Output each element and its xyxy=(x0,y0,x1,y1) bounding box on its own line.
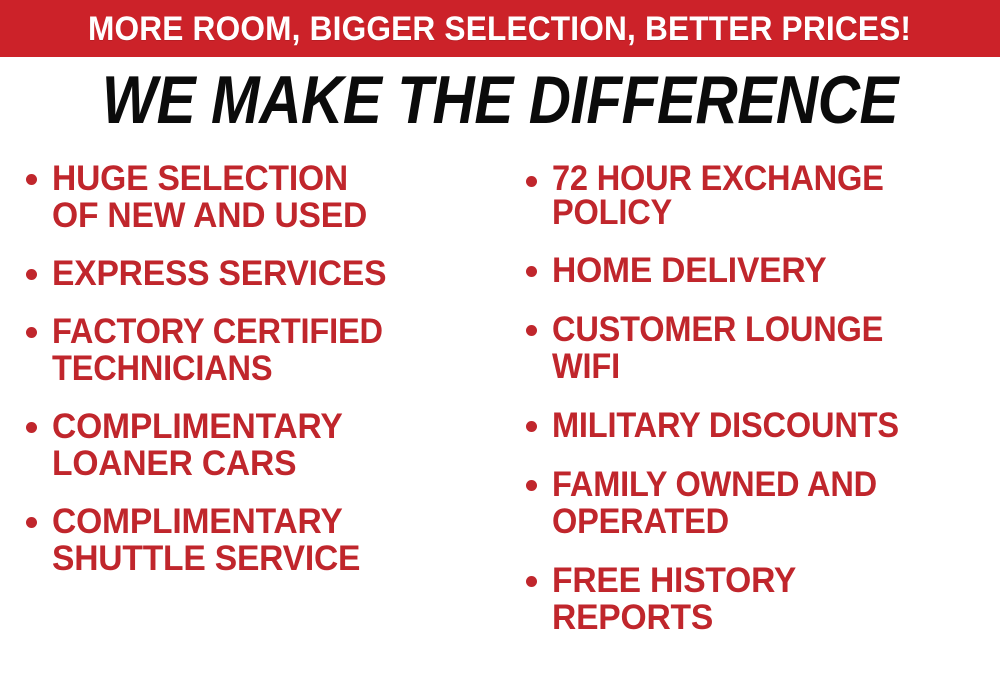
feature-item-label: FREE HISTORY REPORTS xyxy=(552,562,982,636)
feature-item-label: HUGE SELECTION OF NEW AND USED xyxy=(52,160,482,234)
feature-item-label: EXPRESS SERVICES xyxy=(52,255,482,292)
feature-item-label: MILITARY DISCOUNTS xyxy=(552,407,969,444)
top-promo-banner-text: MORE ROOM, BIGGER SELECTION, BETTER PRIC… xyxy=(88,12,911,46)
feature-item: FAMILY OWNED AND OPERATED xyxy=(514,466,1000,540)
bullet-icon xyxy=(26,517,37,528)
feature-column-right: 72 HOUR EXCHANGE POLICY HOME DELIVERY CU… xyxy=(514,162,1000,658)
bullet-icon xyxy=(26,269,37,280)
feature-item: HUGE SELECTION OF NEW AND USED xyxy=(14,160,500,234)
feature-item-label: COMPLIMENTARY SHUTTLE SERVICE xyxy=(52,503,482,577)
feature-item: COMPLIMENTARY LOANER CARS xyxy=(14,408,500,482)
feature-list: HUGE SELECTION OF NEW AND USED EXPRESS S… xyxy=(0,160,1000,680)
feature-item-label: CUSTOMER LOUNGE WIFI xyxy=(552,311,969,385)
feature-item: HOME DELIVERY xyxy=(514,252,1000,289)
feature-item-label: FAMILY OWNED AND OPERATED xyxy=(552,466,969,540)
bullet-icon xyxy=(526,480,537,491)
bullet-icon xyxy=(26,174,37,185)
feature-item-label: 72 HOUR EXCHANGE POLICY xyxy=(552,162,969,230)
bullet-icon xyxy=(526,325,537,336)
feature-item: MILITARY DISCOUNTS xyxy=(514,407,1000,444)
feature-item-label: COMPLIMENTARY LOANER CARS xyxy=(52,408,482,482)
feature-item: 72 HOUR EXCHANGE POLICY xyxy=(514,162,1000,230)
bullet-icon xyxy=(26,422,37,433)
feature-item-label: HOME DELIVERY xyxy=(552,252,982,289)
feature-item: EXPRESS SERVICES xyxy=(14,255,500,292)
bullet-icon xyxy=(526,421,537,432)
top-promo-banner: MORE ROOM, BIGGER SELECTION, BETTER PRIC… xyxy=(0,0,1000,57)
feature-item-label: FACTORY CERTIFIED TECHNICIANS xyxy=(52,313,469,387)
headline: WE MAKE THE DIFFERENCE xyxy=(0,66,1000,134)
advertisement-root: MORE ROOM, BIGGER SELECTION, BETTER PRIC… xyxy=(0,0,1000,694)
feature-item: FACTORY CERTIFIED TECHNICIANS xyxy=(14,313,500,387)
feature-item: COMPLIMENTARY SHUTTLE SERVICE xyxy=(14,503,500,577)
feature-column-left: HUGE SELECTION OF NEW AND USED EXPRESS S… xyxy=(14,160,500,598)
bullet-icon xyxy=(526,266,537,277)
bullet-icon xyxy=(526,576,537,587)
bullet-icon xyxy=(26,327,37,338)
headline-text: WE MAKE THE DIFFERENCE xyxy=(102,66,898,134)
feature-item: CUSTOMER LOUNGE WIFI xyxy=(514,311,1000,385)
bullet-icon xyxy=(526,176,537,187)
feature-item: FREE HISTORY REPORTS xyxy=(514,562,1000,636)
